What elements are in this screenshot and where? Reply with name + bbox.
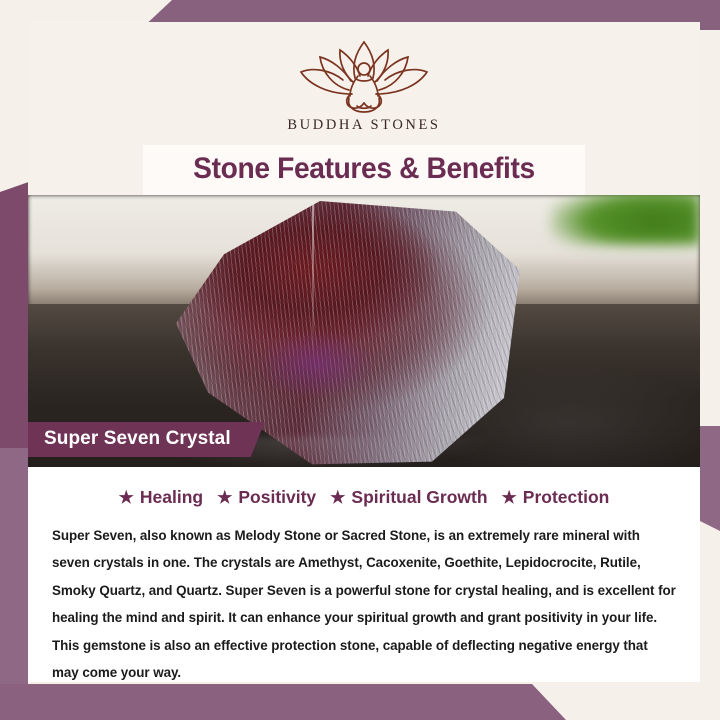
star-icon: ★ [119, 489, 134, 506]
benefit-item-healing: ★ Healing [119, 487, 203, 508]
hero-caption-badge: Super Seven Crystal [28, 422, 265, 457]
star-icon: ★ [217, 489, 232, 506]
star-icon: ★ [330, 489, 345, 506]
benefit-item-protection: ★ Protection [502, 487, 610, 508]
page-title: Stone Features & Benefits [156, 152, 571, 186]
benefit-label: Protection [523, 487, 610, 508]
frame-band-left-lower [0, 448, 28, 702]
brand-name: BUDDHA STONES [287, 117, 440, 134]
card-header: BUDDHA STONES Stone Features & Benefits [28, 22, 700, 195]
benefit-item-positivity: ★ Positivity [217, 487, 316, 508]
card-body: ★ Healing ★ Positivity ★ Spiritual Growt… [28, 467, 700, 682]
description-paragraph: Super Seven, also known as Melody Stone … [50, 518, 678, 682]
benefit-label: Healing [140, 487, 203, 508]
photo-foliage-bokeh [550, 195, 700, 245]
benefit-label: Spiritual Growth [351, 487, 487, 508]
brand-logo: BUDDHA STONES [28, 36, 700, 134]
frame-band-bottom [0, 684, 720, 720]
benefit-item-spiritual-growth: ★ Spiritual Growth [330, 487, 487, 508]
lotus-buddha-icon [289, 36, 439, 114]
crystal-amethyst-zone [256, 329, 376, 399]
hero-image: Super Seven Crystal [28, 195, 700, 467]
star-icon: ★ [502, 489, 517, 506]
benefits-row: ★ Healing ★ Positivity ★ Spiritual Growt… [50, 483, 678, 518]
content-card: BUDDHA STONES Stone Features & Benefits … [28, 22, 700, 682]
title-banner: Stone Features & Benefits [143, 145, 585, 195]
benefit-label: Positivity [238, 487, 316, 508]
